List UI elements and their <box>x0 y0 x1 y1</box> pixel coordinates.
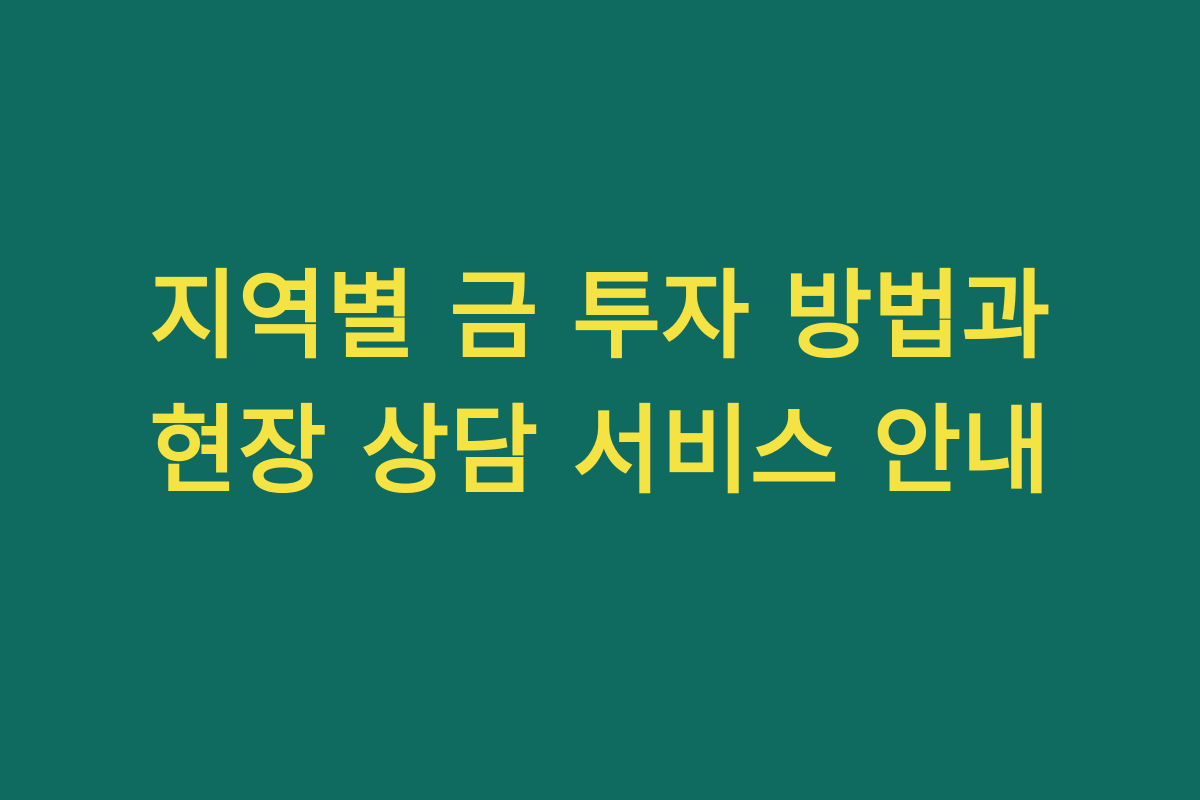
headline-text-block: 지역별 금 투자 방법과 현장 상담 서비스 안내 <box>0 249 1200 519</box>
headline-line-2: 현장 상담 서비스 안내 <box>0 384 1200 519</box>
headline-line-1: 지역별 금 투자 방법과 <box>0 249 1200 384</box>
banner-canvas: 지역별 금 투자 방법과 현장 상담 서비스 안내 <box>0 0 1200 800</box>
